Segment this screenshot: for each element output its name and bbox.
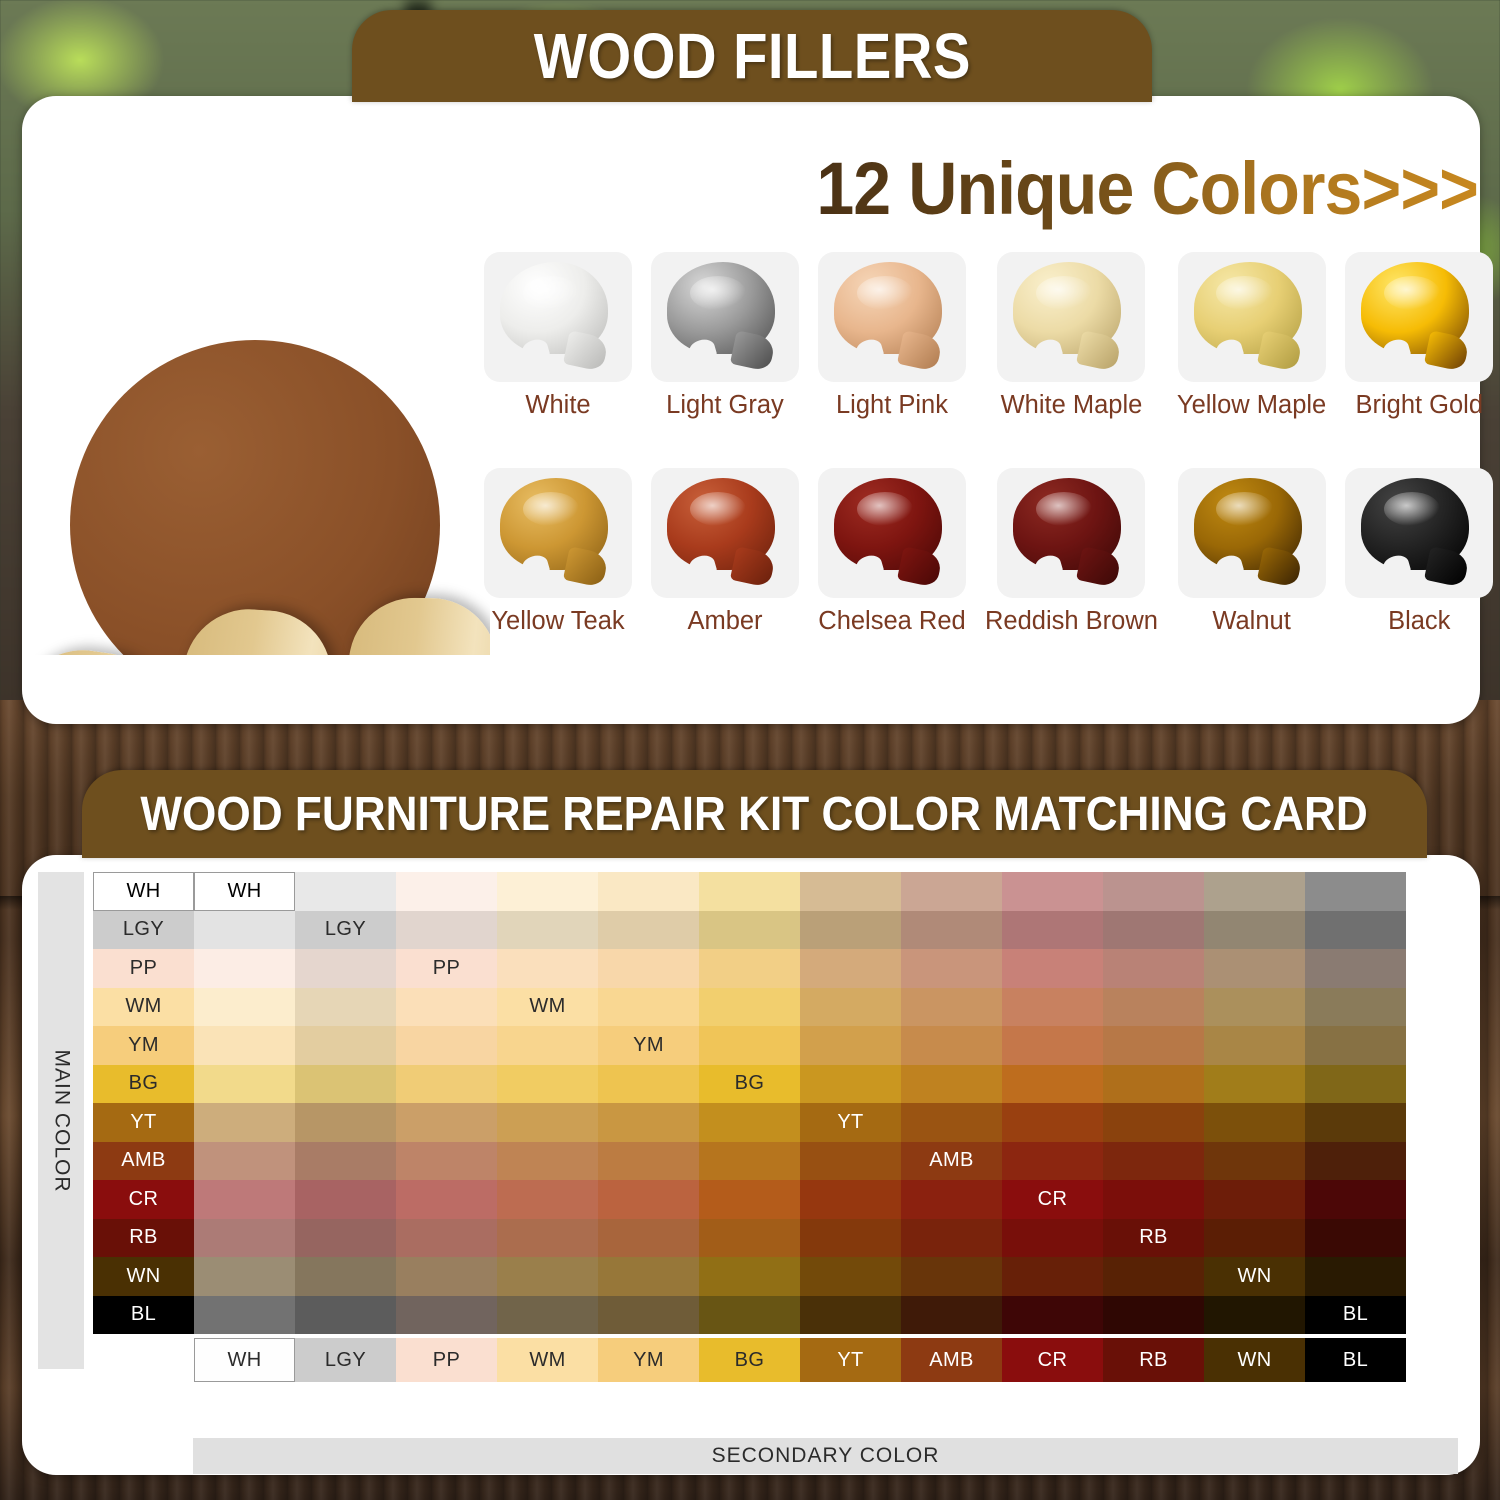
- matrix-cell: [901, 1065, 1002, 1104]
- swatch-tile: [484, 252, 632, 382]
- swatch-label: Yellow Teak: [491, 607, 624, 636]
- matrix-cell: CR: [1002, 1180, 1103, 1219]
- matrix-cell: WM: [497, 988, 598, 1027]
- matrix-cell: [1204, 872, 1305, 911]
- matrix-cell: [1204, 1103, 1305, 1142]
- matrix-cell: [699, 949, 800, 988]
- swatch-tile: [651, 468, 799, 598]
- swatch-label: Walnut: [1212, 607, 1290, 636]
- matrix-cell: [1204, 949, 1305, 988]
- matrix-row-label: AMB: [93, 1142, 194, 1181]
- matrix-cell: [396, 1142, 497, 1181]
- matrix-column-label: BG: [699, 1338, 800, 1382]
- swatch-tile: [997, 252, 1145, 382]
- main-axis-text: MAIN COLOR: [49, 1049, 73, 1192]
- color-swatch[interactable]: Amber: [651, 468, 799, 672]
- matrix-cell: [497, 1026, 598, 1065]
- color-swatch[interactable]: Light Gray: [651, 252, 799, 456]
- swatch-label: White Maple: [1001, 391, 1143, 420]
- matrix-cell: [800, 949, 901, 988]
- matrix-cell: [1305, 949, 1406, 988]
- matrix-cell: AMB: [901, 1142, 1002, 1181]
- matrix-cell: [497, 911, 598, 950]
- matrix-cell: [1305, 911, 1406, 950]
- matrix-cell: [396, 1257, 497, 1296]
- matrix-cell: [699, 988, 800, 1027]
- matrix-row: BLBL: [93, 1296, 1458, 1335]
- matrix-row: YTYT: [93, 1103, 1458, 1142]
- matrix-cell: [295, 1142, 396, 1181]
- matrix-cell: [1103, 872, 1204, 911]
- matrix-cell: [194, 1065, 295, 1104]
- matrix-cell: [295, 872, 396, 911]
- matrix-cell: [901, 1219, 1002, 1258]
- matrix-cell: [194, 1219, 295, 1258]
- matrix-column-label: WH: [194, 1338, 295, 1382]
- matrix-cell: [497, 1296, 598, 1335]
- swatch-label: Yellow Maple: [1177, 391, 1326, 420]
- matrix-cell: [396, 1065, 497, 1104]
- main-title-banner: WOOD FILLERS: [352, 10, 1152, 102]
- matrix-row-label: WN: [93, 1257, 194, 1296]
- swatch-label: White: [525, 391, 590, 420]
- color-swatch[interactable]: White Maple: [985, 252, 1158, 456]
- matrix-row-label: WM: [93, 988, 194, 1027]
- main-title-text: WOOD FILLERS: [533, 19, 970, 93]
- matrix-row-label: BG: [93, 1065, 194, 1104]
- matrix-cell: [800, 911, 901, 950]
- swatch-tile: [1178, 468, 1326, 598]
- matrix-cell: [1103, 1103, 1204, 1142]
- swatch-label: Chelsea Red: [818, 607, 965, 636]
- matrix-cell: LGY: [295, 911, 396, 950]
- matrix-cell: [1305, 1065, 1406, 1104]
- matrix-cell: [699, 1103, 800, 1142]
- matrix-cell: [901, 1296, 1002, 1335]
- matrix-cell: [1204, 1219, 1305, 1258]
- matrix-cell: [598, 1296, 699, 1335]
- paint-blob-icon: [496, 262, 618, 362]
- matrix-column-label: YT: [800, 1338, 901, 1382]
- matrix-cell: [699, 1219, 800, 1258]
- matrix-cell: [699, 1026, 800, 1065]
- color-swatch[interactable]: Light Pink: [818, 252, 966, 456]
- matrix-cell: [497, 1219, 598, 1258]
- matrix-cell: [1002, 872, 1103, 911]
- matrix-cell: [1103, 1180, 1204, 1219]
- color-swatch[interactable]: Yellow Teak: [484, 468, 632, 672]
- matrix-column-label: AMB: [901, 1338, 1002, 1382]
- matrix-cell: [1204, 911, 1305, 950]
- swatch-tile: [818, 252, 966, 382]
- matrix-cell: [194, 1103, 295, 1142]
- matrix-cell: [497, 1257, 598, 1296]
- matrix-row-label: YM: [93, 1026, 194, 1065]
- matrix-cell: [1204, 1065, 1305, 1104]
- matrix-row-label: RB: [93, 1219, 194, 1258]
- tube-body: 0.7oz / 20g• Unique colors• Easy to use,…: [343, 597, 490, 655]
- matrix-column-label: YM: [598, 1338, 699, 1382]
- matrix-cell: BL: [1305, 1296, 1406, 1335]
- color-swatch[interactable]: Chelsea Red: [818, 468, 966, 672]
- matrix-cell: YT: [800, 1103, 901, 1142]
- matrix-column-label: BL: [1305, 1338, 1406, 1382]
- swatch-tile: [1345, 252, 1493, 382]
- swatch-label: Light Gray: [666, 391, 784, 420]
- matrix-cell: YM: [598, 1026, 699, 1065]
- matrix-row: WMWM: [93, 988, 1458, 1027]
- matrix-cell: [1103, 988, 1204, 1027]
- swatch-tile: [997, 468, 1145, 598]
- matrix-cell: [699, 1180, 800, 1219]
- paint-blob-icon: [1009, 262, 1131, 362]
- matrix-cell: [194, 1296, 295, 1335]
- color-swatch-grid: WhiteLight GrayLight PinkWhite MapleYell…: [484, 252, 1470, 672]
- matrix-cell: [800, 1219, 901, 1258]
- matrix-cell: [194, 911, 295, 950]
- matrix-cell: [194, 949, 295, 988]
- matrix-cell: [1305, 1257, 1406, 1296]
- matrix-cell: [598, 911, 699, 950]
- matrix-cell: [396, 911, 497, 950]
- matrix-cell: [497, 1103, 598, 1142]
- matrix-cell: [800, 988, 901, 1027]
- swatch-tile: [1345, 468, 1493, 598]
- matrix-cell: [901, 1026, 1002, 1065]
- matrix-cell: [295, 1257, 396, 1296]
- matrix-cell: [295, 1026, 396, 1065]
- matrix-cell: [901, 988, 1002, 1027]
- matrix-cell: [699, 911, 800, 950]
- matrix-cell: [598, 988, 699, 1027]
- matrix-cell: [1305, 1180, 1406, 1219]
- matrix-cell: [396, 1026, 497, 1065]
- matrix-cell: [1103, 949, 1204, 988]
- paint-blob-icon: [1009, 478, 1131, 578]
- matrix-cell: [1204, 988, 1305, 1027]
- color-swatch[interactable]: Black: [1345, 468, 1493, 672]
- matrix-cell: [1305, 1142, 1406, 1181]
- matrix-cell: [800, 872, 901, 911]
- matrix-cell: [1002, 1103, 1103, 1142]
- matrix-cell: [598, 872, 699, 911]
- matrix-cell: [699, 1296, 800, 1335]
- matrix-cell: [901, 872, 1002, 911]
- matrix-header-row: WHWH: [93, 872, 1458, 911]
- paint-blob-icon: [1357, 478, 1479, 578]
- main-color-axis-label: MAIN COLOR: [38, 872, 84, 1369]
- page-headline: 12 Unique Colors>>>: [816, 146, 1478, 231]
- swatch-tile: [1178, 252, 1326, 382]
- paint-blob-icon: [496, 478, 618, 578]
- matrix-column-label: WM: [497, 1338, 598, 1382]
- matrix-cell: [1103, 1026, 1204, 1065]
- matrix-row-label: BL: [93, 1296, 194, 1335]
- matrix-cell: [901, 1257, 1002, 1296]
- paint-blob-icon: [830, 262, 952, 362]
- matrix-cell: [598, 1180, 699, 1219]
- secondary-color-axis-label: SECONDARY COLOR: [193, 1438, 1458, 1474]
- matrix-cell: [800, 1257, 901, 1296]
- matrix-cell: [1002, 1142, 1103, 1181]
- matrix-cell: [598, 1065, 699, 1104]
- matrix-cell: [1103, 1142, 1204, 1181]
- matrix-row-label: PP: [93, 949, 194, 988]
- swatch-label: Light Pink: [836, 391, 948, 420]
- matrix-cell: [1103, 1296, 1204, 1335]
- matrix-cell: [1305, 988, 1406, 1027]
- matching-card-title-text: WOOD FURNITURE REPAIR KIT COLOR MATCHING…: [141, 787, 1368, 842]
- matrix-cell: [1002, 1296, 1103, 1335]
- color-swatch[interactable]: White: [484, 252, 632, 456]
- matrix-cell: [194, 1026, 295, 1065]
- color-swatch[interactable]: Bright Gold: [1345, 252, 1493, 456]
- matrix-cell: [497, 1180, 598, 1219]
- matrix-row: AMBAMB: [93, 1142, 1458, 1181]
- matrix-cell: [497, 1065, 598, 1104]
- matrix-cell: [901, 911, 1002, 950]
- matrix-cell: [699, 1142, 800, 1181]
- matrix-cell: [194, 1180, 295, 1219]
- matrix-cell: [1002, 1026, 1103, 1065]
- matrix-cell: [295, 1065, 396, 1104]
- matrix-cell: [295, 1180, 396, 1219]
- matrix-cell: [800, 1180, 901, 1219]
- product-tubes-illustration: 0.7oz / 20g• Unique colors• Easy to use,…: [20, 110, 490, 655]
- color-swatch[interactable]: Reddish Brown: [985, 468, 1158, 672]
- matrix-cell: [497, 1142, 598, 1181]
- matrix-cell: [699, 872, 800, 911]
- matrix-row: BGBG: [93, 1065, 1458, 1104]
- matrix-cell: [396, 872, 497, 911]
- matrix-cell: [1305, 1219, 1406, 1258]
- matrix-cell: [396, 1296, 497, 1335]
- matrix-column-label: PP: [396, 1338, 497, 1382]
- product-tube: 0.7oz / 20g• Unique colors• Easy to use,…: [342, 597, 490, 655]
- matrix-cell: [497, 949, 598, 988]
- swatch-label: Amber: [687, 607, 762, 636]
- matrix-cell: [194, 1257, 295, 1296]
- matrix-cell: [901, 1103, 1002, 1142]
- matrix-row: CRCR: [93, 1180, 1458, 1219]
- matrix-cell: [1002, 1219, 1103, 1258]
- matrix-cell: [598, 1257, 699, 1296]
- matrix-rows: WHWHLGYLGYPPPPWMWMYMYMBGBGYTYTAMBAMBCRCR…: [93, 872, 1458, 1382]
- matrix-cell: [901, 1180, 1002, 1219]
- matrix-cell: [1002, 988, 1103, 1027]
- matrix-cell: [598, 1219, 699, 1258]
- matrix-cell: [1002, 1257, 1103, 1296]
- swatch-label: Bright Gold: [1355, 391, 1483, 420]
- matrix-cell: [1103, 1257, 1204, 1296]
- matrix-cell: [194, 1142, 295, 1181]
- matrix-cell: [1204, 1142, 1305, 1181]
- matrix-cell: [1305, 872, 1406, 911]
- matrix-cell: [1002, 949, 1103, 988]
- matrix-row: LGYLGY: [93, 911, 1458, 950]
- paint-blob-icon: [830, 478, 952, 578]
- matrix-column-label: WN: [1204, 1338, 1305, 1382]
- matrix-cell: RB: [1103, 1219, 1204, 1258]
- matrix-cell: [295, 1219, 396, 1258]
- matrix-cell: PP: [396, 949, 497, 988]
- matrix-cell: [598, 1103, 699, 1142]
- matrix-cell: WH: [194, 872, 295, 911]
- matrix-cell: [497, 872, 598, 911]
- matrix-row-label: CR: [93, 1180, 194, 1219]
- paint-blob-icon: [1357, 262, 1479, 362]
- matrix-column-label: CR: [1002, 1338, 1103, 1382]
- matrix-cell: [1204, 1026, 1305, 1065]
- paint-blob-icon: [663, 478, 785, 578]
- color-matching-matrix: MAIN COLOR WHWHLGYLGYPPPPWMWMYMYMBGBGYTY…: [38, 872, 1458, 1472]
- matrix-cell: [295, 988, 396, 1027]
- matrix-cell: [396, 1180, 497, 1219]
- matrix-cell: [901, 949, 1002, 988]
- matrix-cell: [396, 1219, 497, 1258]
- infographic-canvas: WOOD FILLERS 12 Unique Colors>>> 0.7oz /…: [0, 0, 1500, 1500]
- matrix-footer-row: WHLGYPPWMYMBGYTAMBCRRBWNBL: [194, 1338, 1458, 1382]
- paint-blob-icon: [1190, 478, 1312, 578]
- matrix-cell: [396, 1103, 497, 1142]
- paint-blob-icon: [663, 262, 785, 362]
- matrix-row-label: WH: [93, 872, 194, 911]
- color-swatch[interactable]: Yellow Maple: [1177, 252, 1326, 456]
- matrix-cell: [1204, 1180, 1305, 1219]
- matrix-cell: [800, 1065, 901, 1104]
- matrix-cell: [194, 988, 295, 1027]
- matrix-cell: [1103, 1065, 1204, 1104]
- matrix-row: PPPP: [93, 949, 1458, 988]
- matrix-column-label: RB: [1103, 1338, 1204, 1382]
- matching-card-title-banner: WOOD FURNITURE REPAIR KIT COLOR MATCHING…: [82, 770, 1427, 858]
- matrix-cell: [598, 949, 699, 988]
- matrix-cell: BG: [699, 1065, 800, 1104]
- matrix-cell: [800, 1142, 901, 1181]
- swatch-label: Reddish Brown: [985, 607, 1158, 636]
- matrix-cell: [1204, 1296, 1305, 1335]
- matrix-cell: [598, 1142, 699, 1181]
- matrix-row: YMYM: [93, 1026, 1458, 1065]
- matrix-row-label: YT: [93, 1103, 194, 1142]
- matrix-cell: [1002, 911, 1103, 950]
- matrix-row: WNWN: [93, 1257, 1458, 1296]
- swatch-tile: [818, 468, 966, 598]
- matrix-cell: [295, 949, 396, 988]
- swatch-tile: [651, 252, 799, 382]
- matrix-cell: [295, 1103, 396, 1142]
- matrix-row-label: LGY: [93, 911, 194, 950]
- swatch-tile: [484, 468, 632, 598]
- matrix-cell: [800, 1296, 901, 1335]
- matrix-cell: [699, 1257, 800, 1296]
- matrix-cell: [1103, 911, 1204, 950]
- matrix-cell: [1305, 1103, 1406, 1142]
- matrix-cell: WN: [1204, 1257, 1305, 1296]
- matrix-cell: [1305, 1026, 1406, 1065]
- color-swatch[interactable]: Walnut: [1177, 468, 1326, 672]
- matrix-cell: [1002, 1065, 1103, 1104]
- matrix-column-label: LGY: [295, 1338, 396, 1382]
- swatch-label: Black: [1388, 607, 1450, 636]
- matrix-row: RBRB: [93, 1219, 1458, 1258]
- matrix-cell: [396, 988, 497, 1027]
- matrix-cell: [295, 1296, 396, 1335]
- matrix-cell: [800, 1026, 901, 1065]
- paint-blob-icon: [1190, 262, 1312, 362]
